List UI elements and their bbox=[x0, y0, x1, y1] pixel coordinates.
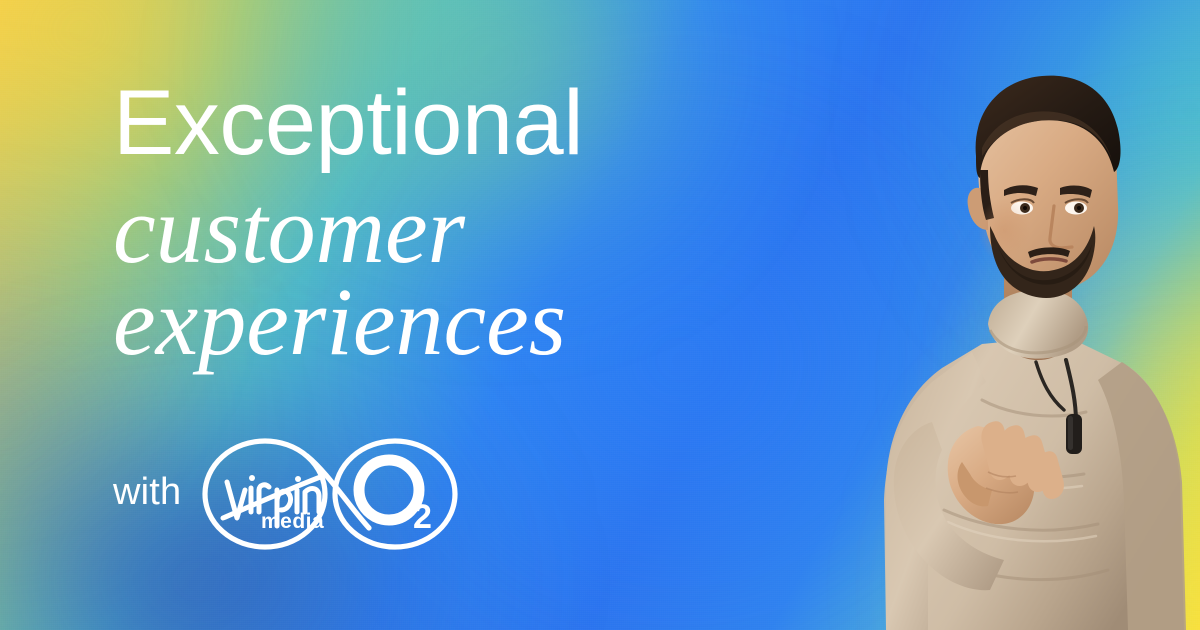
o2-wordmark: 2 bbox=[359, 460, 432, 536]
headline-line-1: Exceptional bbox=[113, 78, 753, 169]
headline-line-3: experiences bbox=[113, 273, 753, 371]
svg-text:2: 2 bbox=[413, 498, 432, 536]
with-label: with bbox=[113, 473, 181, 515]
virgin-media-o2-logo: media 2 bbox=[199, 432, 461, 556]
headline-line-2: customer bbox=[113, 181, 753, 279]
brand-lockup: with bbox=[113, 432, 461, 556]
headline-block: Exceptional customer experiences bbox=[113, 78, 753, 371]
banner-canvas: Exceptional customer experiences with bbox=[0, 0, 1200, 630]
media-wordmark: media bbox=[261, 510, 324, 533]
svg-text:media: media bbox=[261, 510, 324, 533]
